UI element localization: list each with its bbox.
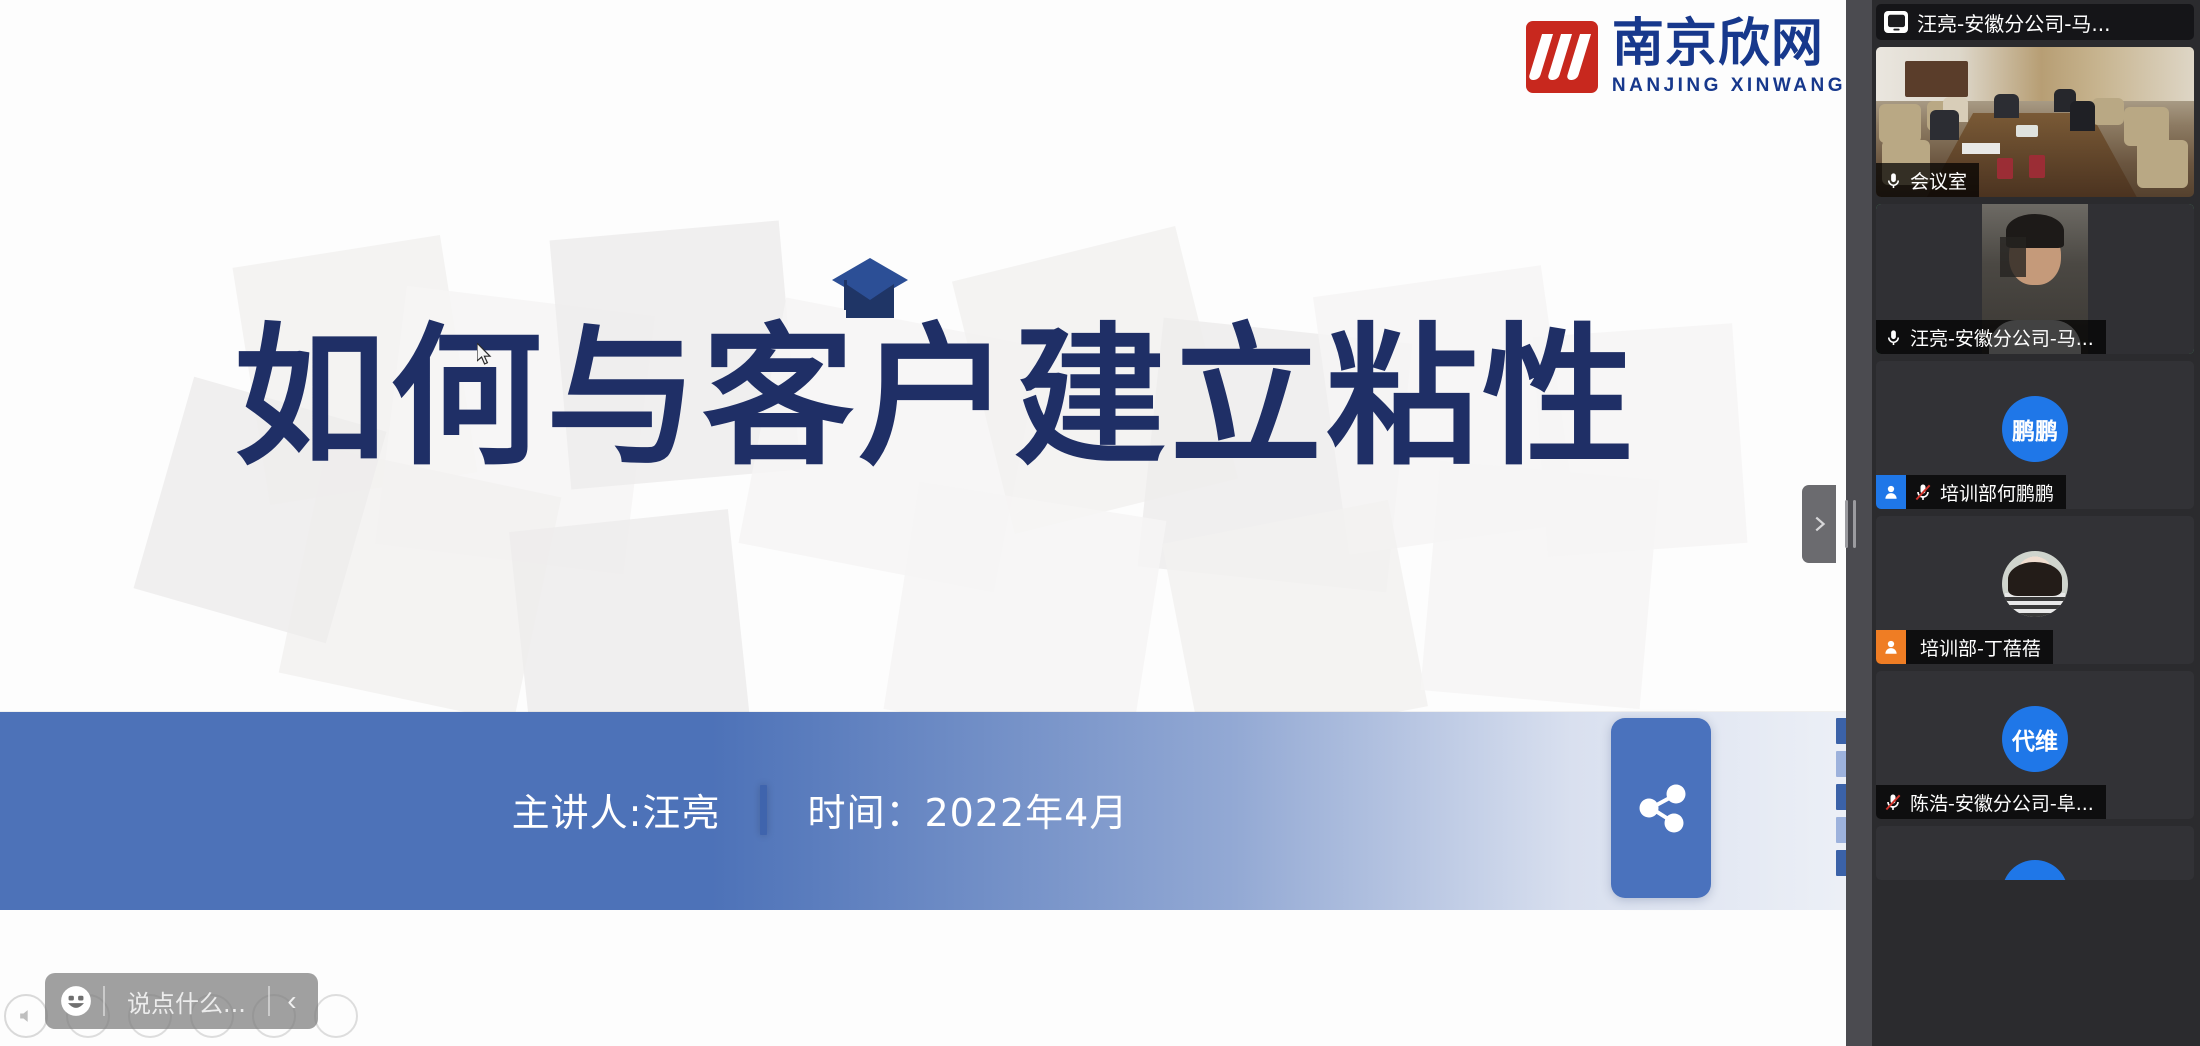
toolbar-ghost-button[interactable] — [314, 994, 358, 1038]
chat-input-bar[interactable]: 说点什么... ‹ — [45, 973, 318, 1029]
participant-namebar: 汪亮-安徽分公司-马... — [1876, 320, 2106, 354]
participant-tile-partial[interactable] — [1876, 826, 2194, 880]
participant-tile-ding-beibei[interactable]: 培训部-丁蓓蓓 — [1876, 516, 2194, 664]
screen-share-header[interactable]: 汪亮-安徽分公司-马... — [1876, 4, 2194, 40]
participant-namebar: 培训部何鹏鹏 — [1876, 475, 2066, 509]
participant-tile-he-pengpeng[interactable]: 鹏鹏 培训部何鹏鹏 — [1876, 361, 2194, 509]
avatar: 鹏鹏 — [2002, 396, 2068, 462]
volume-icon[interactable] — [4, 994, 48, 1038]
chat-input-placeholder[interactable]: 说点什么... — [105, 984, 268, 1019]
slide-footer-text: 主讲人:汪亮 时间：2022年4月 — [0, 782, 1640, 837]
speaker-label: 主讲人:汪亮 — [512, 782, 721, 837]
participant-tile-meeting-room[interactable]: 会议室 — [1876, 47, 2194, 197]
avatar: 代维 — [2002, 706, 2068, 772]
logo-text-cn: 南京欣网 — [1612, 18, 1824, 70]
panel-scrollbar-grip[interactable] — [1840, 498, 1860, 550]
date-label: 时间：2022年4月 — [807, 782, 1128, 837]
participant-name: 汪亮-安徽分公司-马... — [1910, 324, 2094, 351]
host-badge-icon — [1876, 475, 1906, 509]
logo-mark — [1526, 21, 1598, 93]
share-network-icon — [1611, 718, 1711, 898]
shared-screen-area: 南京欣网 NANJING XINWANG 如何与客户建立粘性 主讲人:汪亮 时间 — [0, 0, 1872, 1046]
participant-name: 培训部-丁蓓蓓 — [1906, 634, 2041, 661]
mouse-cursor — [477, 343, 493, 367]
participant-panel[interactable]: 汪亮-安徽分公司-马... — [1872, 0, 2200, 1046]
avatar — [2002, 551, 2068, 617]
avatar — [2002, 860, 2068, 880]
screen-share-owner-name: 汪亮-安徽分公司-马... — [1917, 8, 2111, 37]
participant-name: 陈浩-安徽分公司-阜... — [1910, 789, 2094, 816]
presentation-slide: 南京欣网 NANJING XINWANG 如何与客户建立粘性 主讲人:汪亮 时间 — [0, 0, 1872, 1046]
footer-divider — [760, 785, 767, 835]
mic-on-icon — [1876, 163, 1910, 197]
slide-title: 如何与客户建立粘性 — [0, 322, 1872, 474]
cohost-badge-icon — [1876, 630, 1906, 664]
logo-text-en: NANJING XINWANG — [1612, 76, 1846, 95]
participant-name: 培训部何鹏鹏 — [1940, 479, 2054, 506]
chat-collapse-chevron-icon[interactable]: ‹ — [270, 973, 314, 1029]
mic-on-icon — [1876, 320, 1910, 354]
mic-muted-icon — [1906, 475, 1940, 509]
participant-tile-chen-hao[interactable]: 代维 陈浩-安徽分公司-阜... — [1876, 671, 2194, 819]
participant-namebar: 陈浩-安徽分公司-阜... — [1876, 785, 2106, 819]
screen-share-icon — [1884, 11, 1908, 33]
participant-namebar: 会议室 — [1876, 163, 1979, 197]
emoji-icon[interactable] — [49, 973, 103, 1029]
panel-collapse-handle[interactable] — [1802, 485, 1836, 563]
participant-name: 会议室 — [1910, 167, 1967, 194]
participant-tile-active-speaker[interactable]: 汪亮-安徽分公司-马... — [1876, 204, 2194, 354]
mic-muted-icon — [1876, 785, 1910, 819]
participant-namebar: 培训部-丁蓓蓓 — [1876, 630, 2053, 664]
meeting-app: 南京欣网 NANJING XINWANG 如何与客户建立粘性 主讲人:汪亮 时间 — [0, 0, 2200, 1046]
company-logo: 南京欣网 NANJING XINWANG — [1526, 18, 1846, 95]
